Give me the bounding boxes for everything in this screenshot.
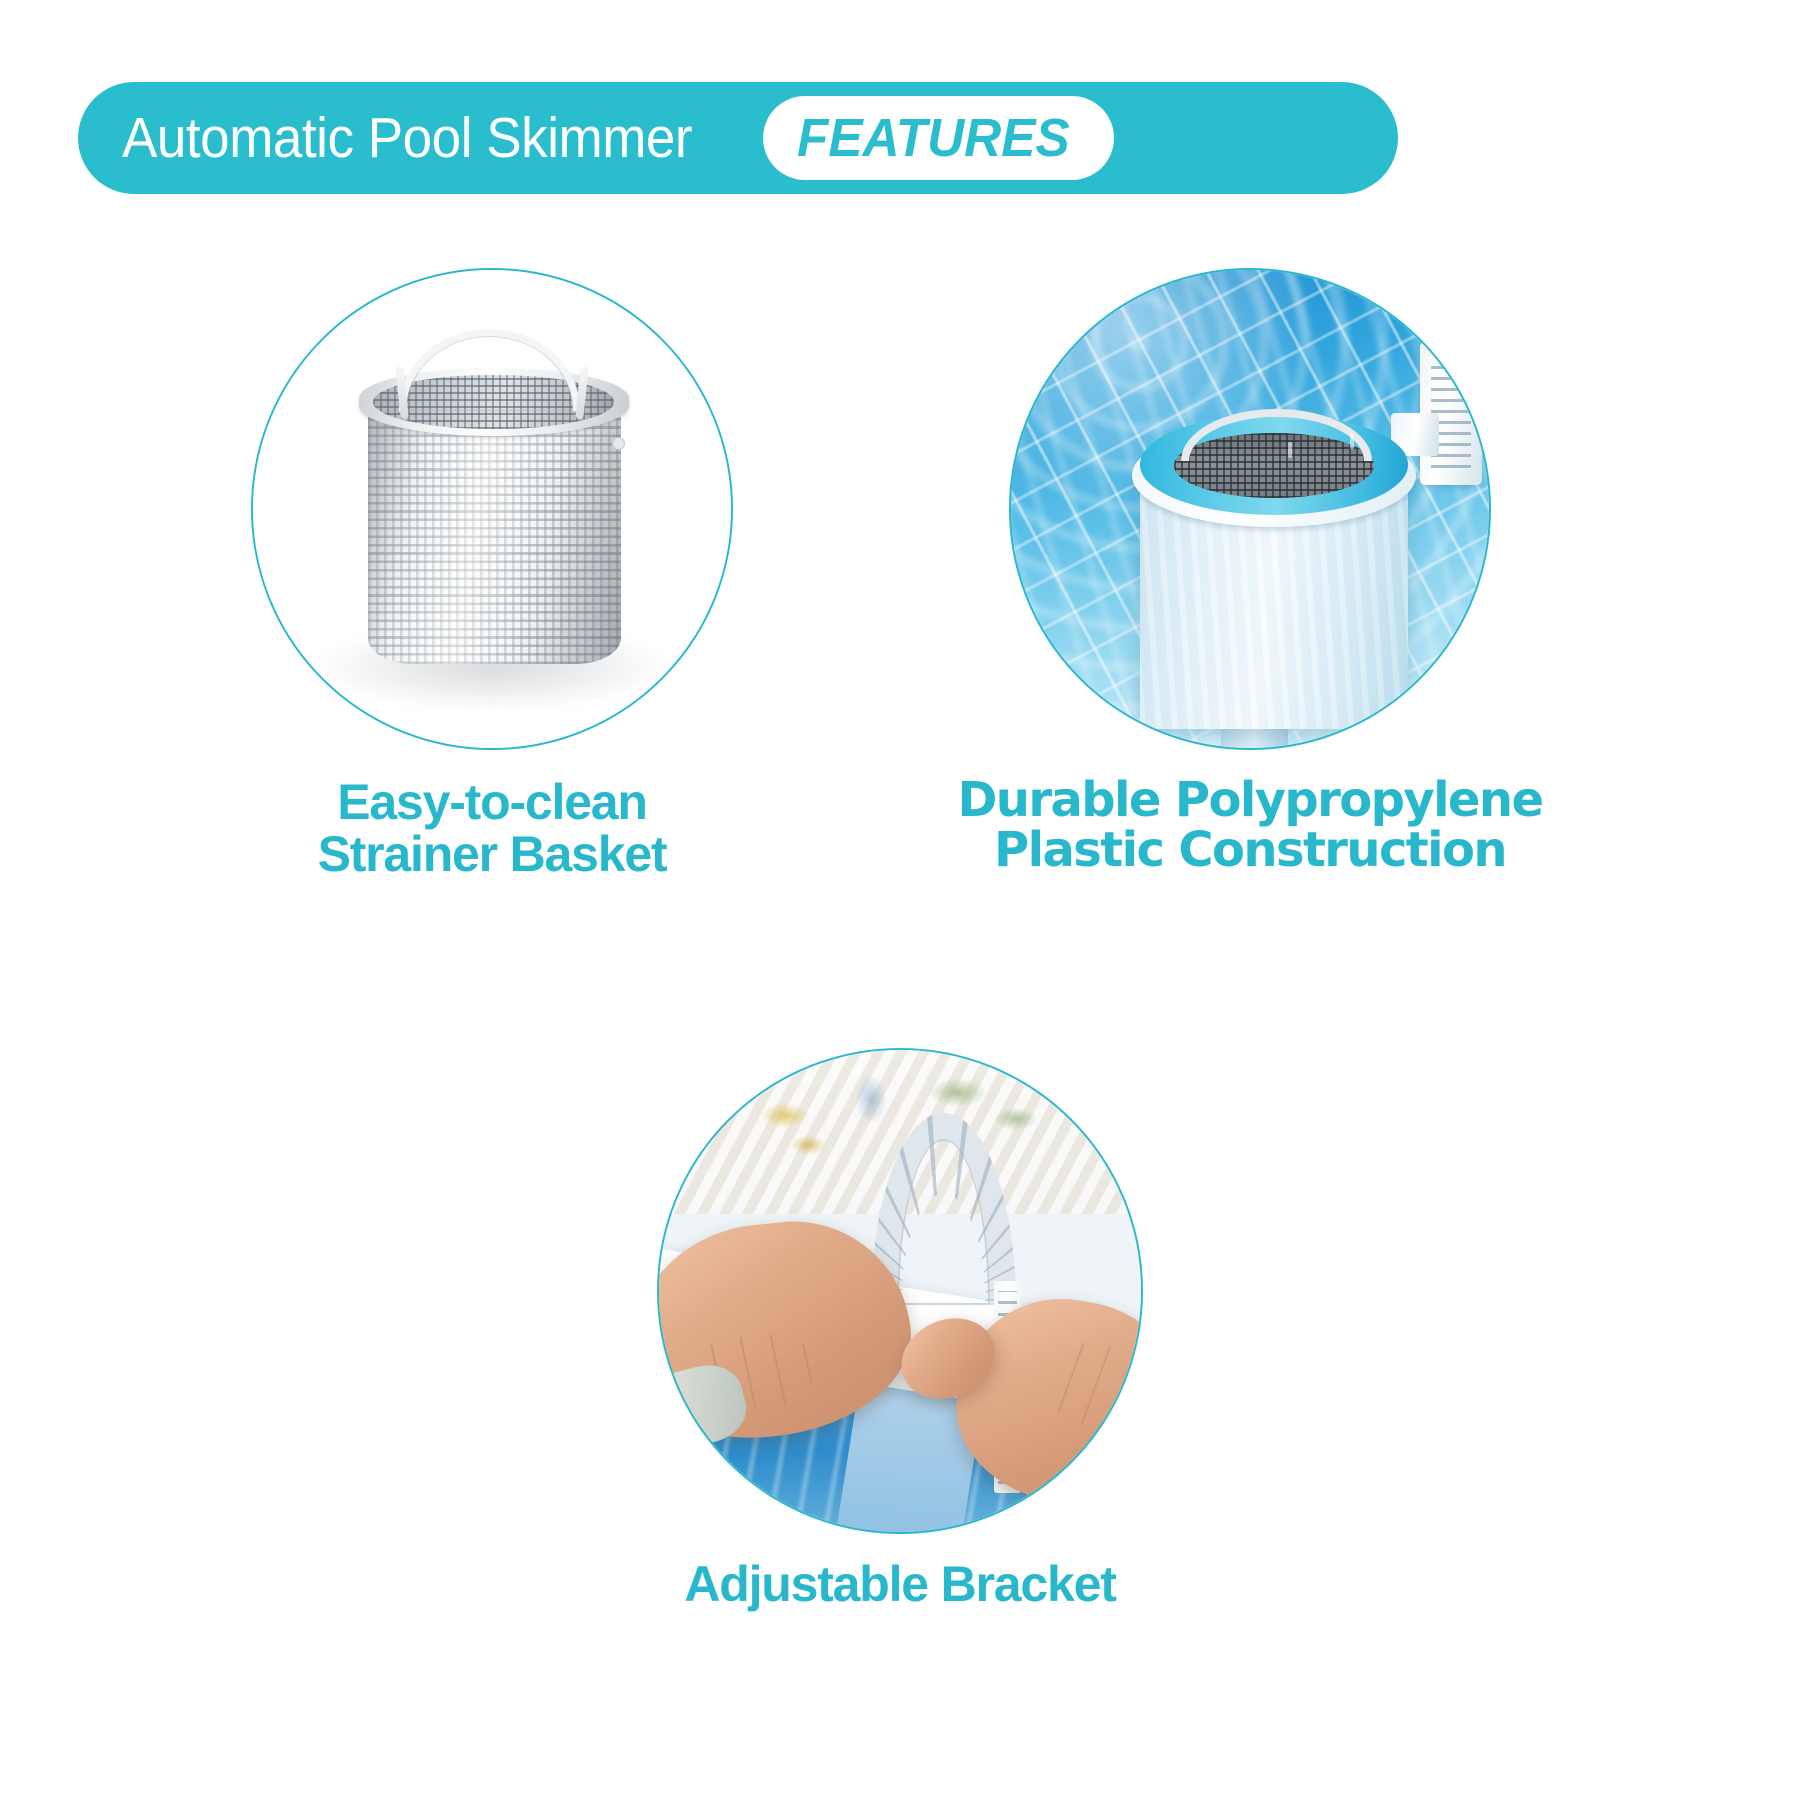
strainer-basket-illustration bbox=[253, 270, 731, 748]
strainer-basket-photo bbox=[251, 268, 733, 750]
caption-line-2: Plastic Construction bbox=[940, 826, 1560, 876]
page-title: Automatic Pool Skimmer bbox=[122, 105, 692, 171]
basket-handle bbox=[399, 329, 581, 410]
skimmer-ring-notch-2 bbox=[1350, 433, 1354, 449]
feature-card-plastic-construction: Durable Polypropylene Plastic Constructi… bbox=[940, 268, 1560, 876]
plastic-construction-caption: Durable Polypropylene Plastic Constructi… bbox=[940, 776, 1560, 876]
basket-tab bbox=[612, 437, 625, 450]
caption-line-1: Easy-to-clean bbox=[242, 776, 742, 828]
caption-line-2: Strainer Basket bbox=[242, 828, 742, 880]
features-badge: FEATURES bbox=[763, 96, 1114, 180]
features-badge-label: FEATURES bbox=[797, 107, 1070, 169]
adjustable-bracket-photo bbox=[657, 1048, 1143, 1534]
caption-line-1: Adjustable Bracket bbox=[530, 1558, 1270, 1610]
skimmer-ring-notch-1 bbox=[1288, 442, 1292, 458]
strainer-basket-caption: Easy-to-clean Strainer Basket bbox=[242, 776, 742, 880]
adjustable-bracket-caption: Adjustable Bracket bbox=[530, 1558, 1270, 1610]
feature-card-strainer-basket: Easy-to-clean Strainer Basket bbox=[242, 268, 742, 880]
caption-line-1: Durable Polypropylene bbox=[940, 776, 1560, 826]
plastic-construction-photo bbox=[1009, 268, 1491, 750]
adjustable-bracket-illustration bbox=[659, 1050, 1141, 1532]
feature-card-adjustable-bracket: Adjustable Bracket bbox=[530, 1048, 1270, 1610]
header-banner: Automatic Pool Skimmer FEATURES bbox=[78, 82, 1398, 194]
pool-skimmer-illustration bbox=[1011, 270, 1489, 748]
right-hand-fingers bbox=[1043, 1337, 1141, 1433]
